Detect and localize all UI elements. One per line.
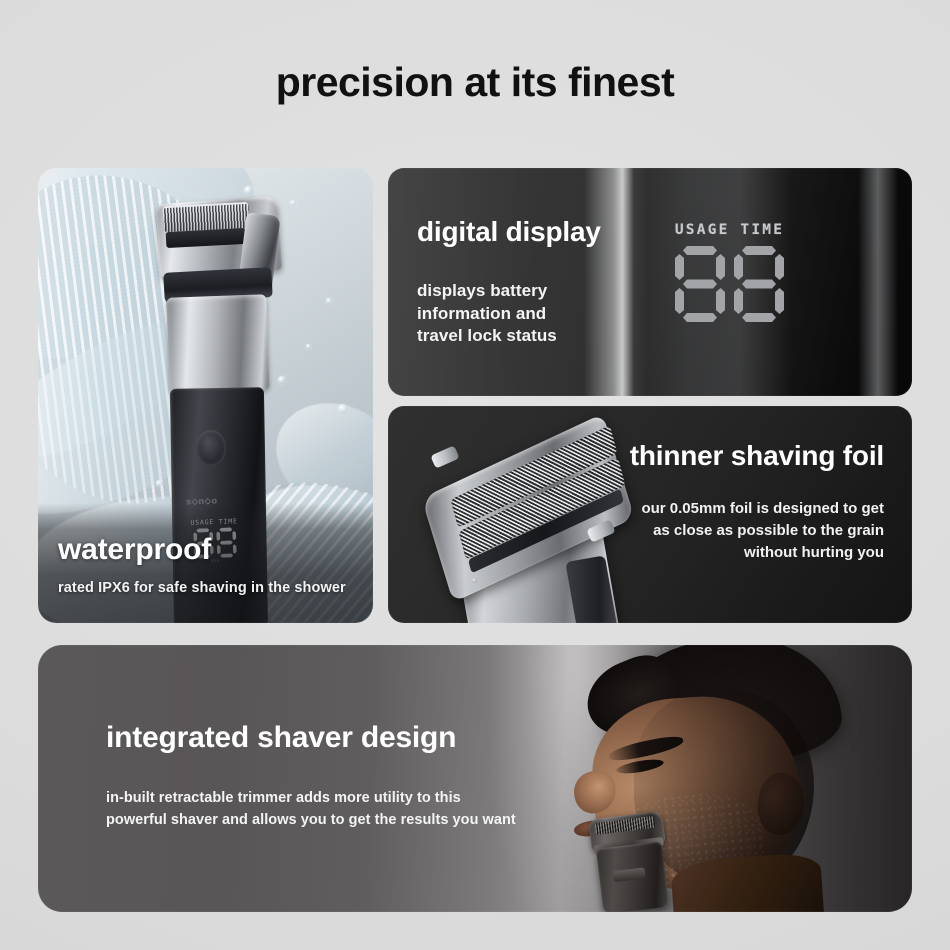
digital-display-body: displays battery information and travel …	[417, 280, 557, 348]
usage-time-label: USAGE TIME	[667, 222, 792, 238]
foil-head-image	[406, 428, 666, 623]
page-title: precision at its finest	[0, 62, 950, 103]
lcd-digit	[734, 246, 784, 322]
shaving-foil-panel[interactable]: thinner shaving foil our 0.05mm foil is …	[388, 406, 912, 623]
handheld-shaver	[582, 810, 680, 912]
man-shaving-image	[512, 645, 912, 912]
usage-time-lcd: USAGE TIME	[667, 222, 792, 322]
integrated-design-body: in-built retractable trimmer adds more u…	[106, 787, 516, 832]
waterproof-subtext: rated IPX6 for safe shaving in the showe…	[58, 581, 346, 596]
shaving-foil-body: our 0.05mm foil is designed to get as cl…	[641, 498, 884, 563]
shaving-foil-heading: thinner shaving foil	[630, 442, 884, 470]
waterproof-heading: waterproof	[58, 535, 211, 565]
integrated-design-panel[interactable]	[38, 645, 912, 912]
waterproof-panel[interactable]: s⬦n⬦o USAGE TIME min waterproof rated IP…	[38, 168, 373, 623]
digital-display-heading: digital display	[417, 218, 601, 246]
lcd-digit	[675, 246, 725, 322]
usage-time-digits	[667, 246, 792, 322]
digital-display-panel[interactable]: digital display displays battery informa…	[388, 168, 912, 396]
integrated-design-heading: integrated shaver design	[106, 723, 456, 753]
